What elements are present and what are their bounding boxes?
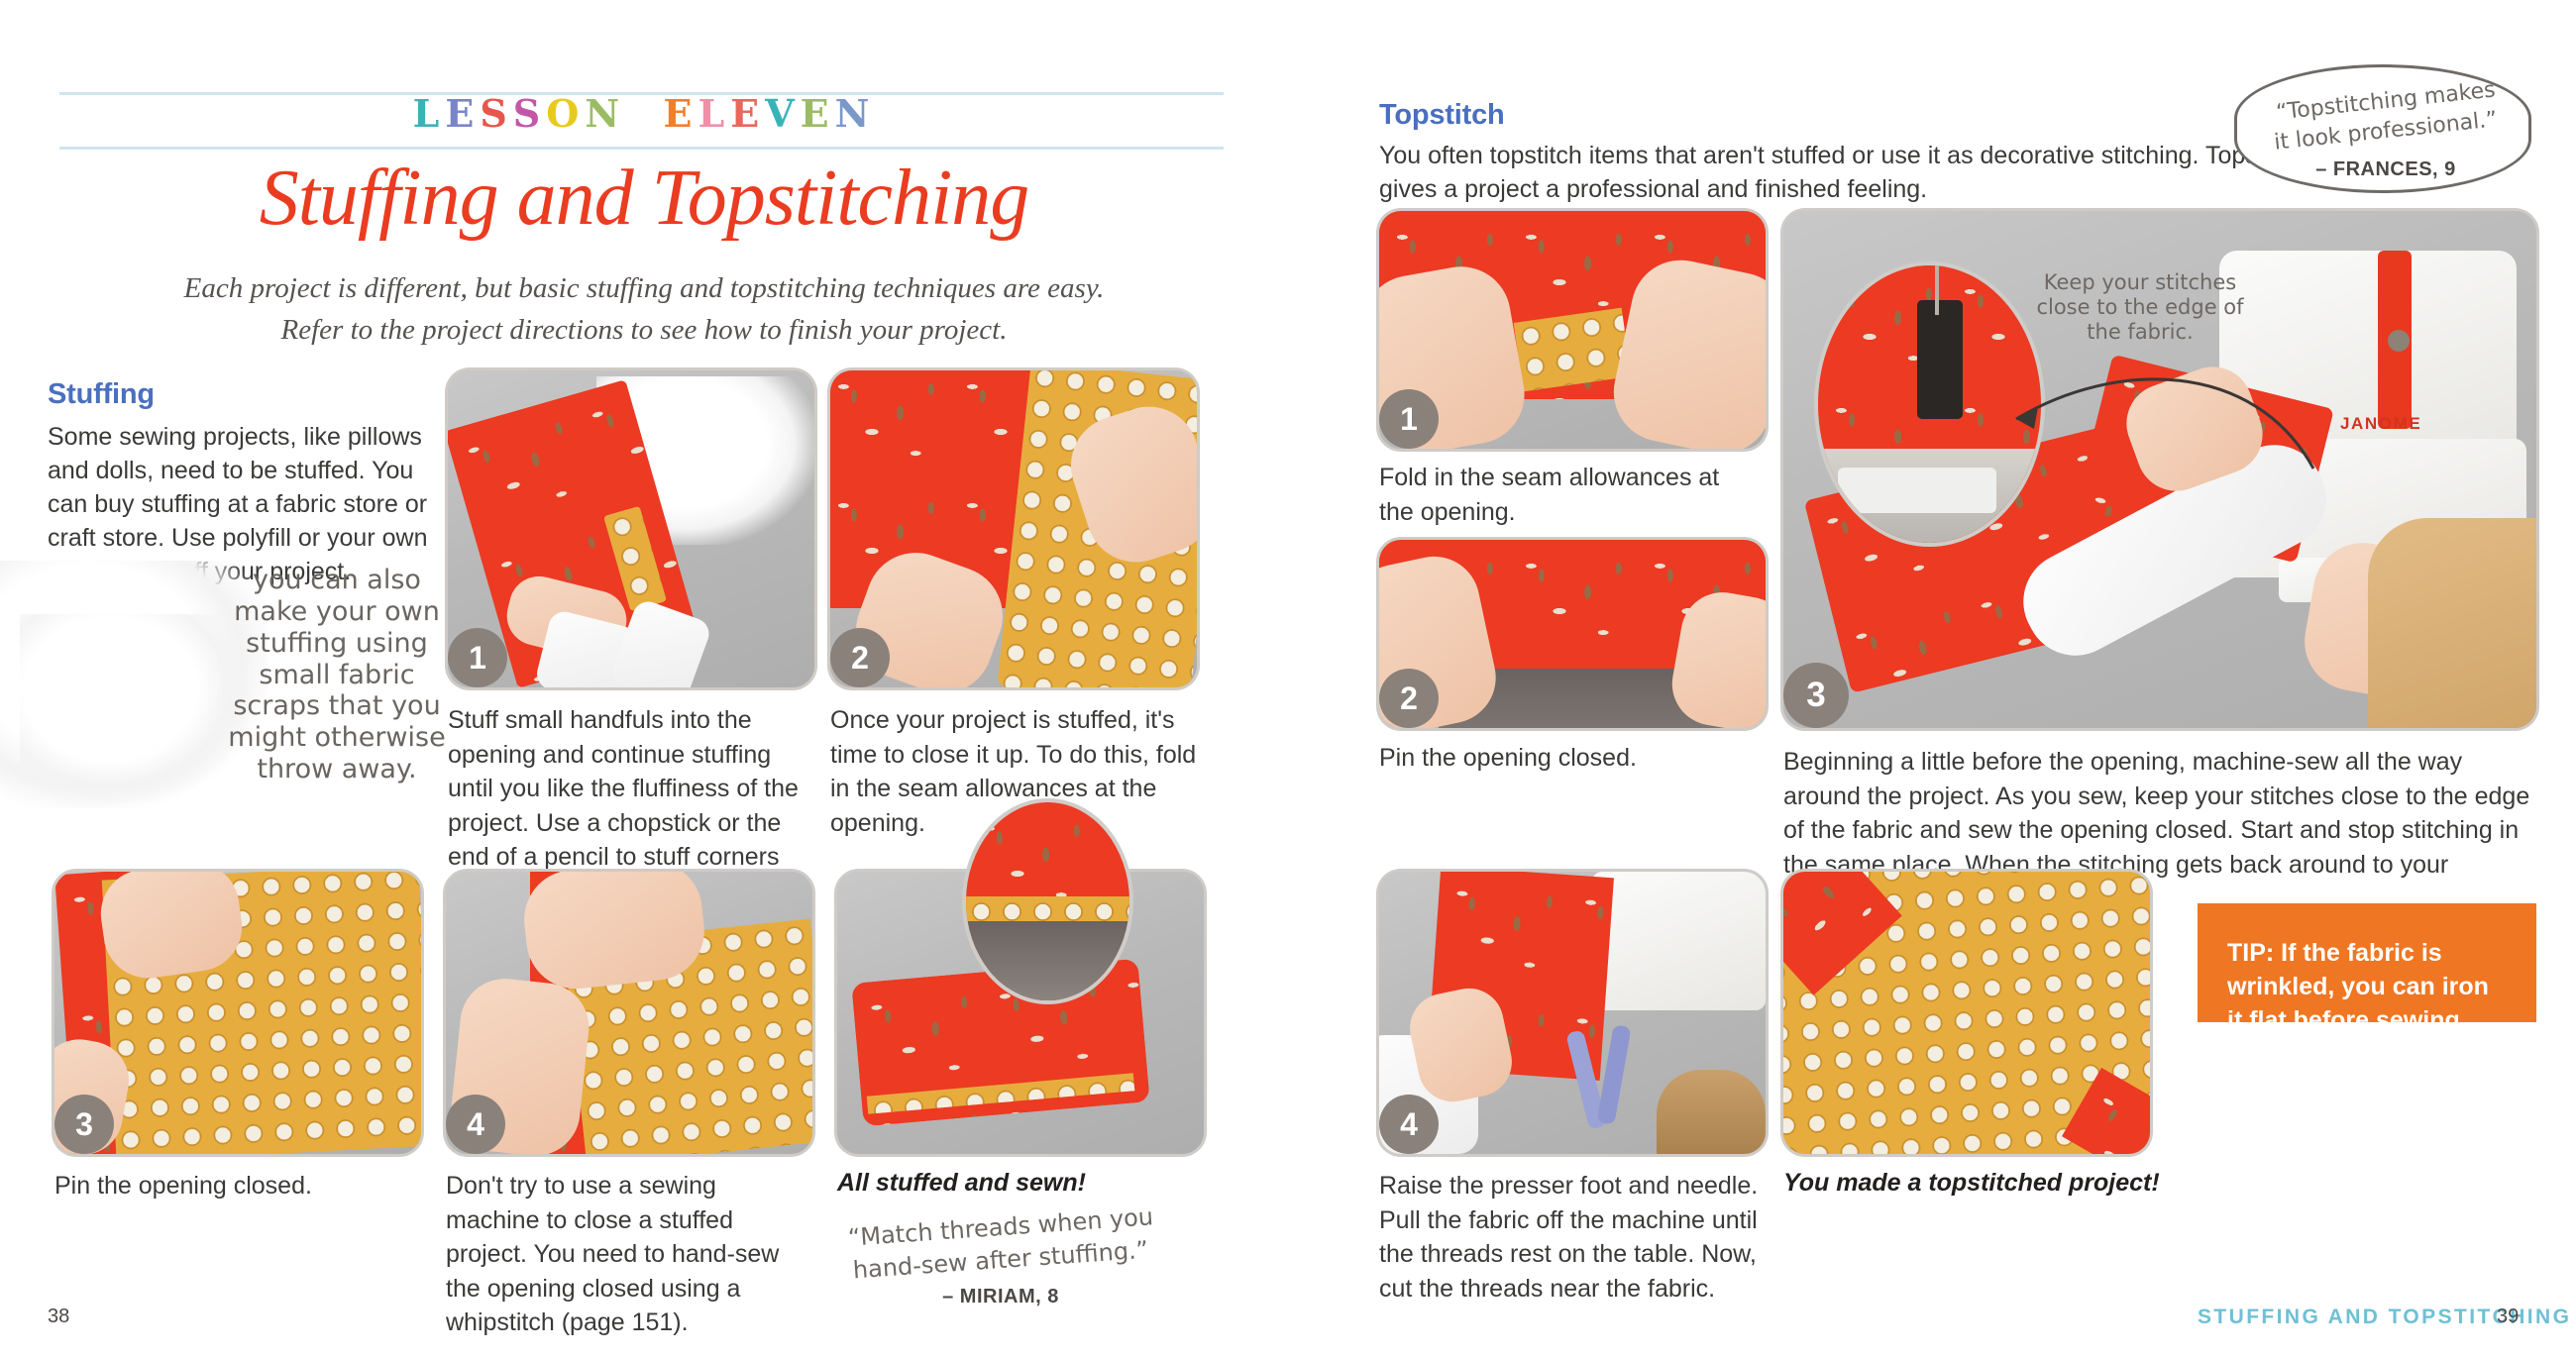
step-badge-3: 3 <box>54 1095 114 1154</box>
photo-right-step-3: JANOME Keep your stitches close to the e… <box>1783 211 2536 728</box>
step-badge-right-4: 4 <box>1379 1095 1439 1154</box>
quote-left-attribution: – MIRIAM, 8 <box>837 1286 1164 1308</box>
quote-bubble-right: “Topstitching makes it look professional… <box>2234 64 2531 193</box>
photo-step-3: 3 <box>54 872 421 1154</box>
caption-step-4: Don't try to use a sewing machine to clo… <box>446 1169 812 1340</box>
handwritten-note-stuffing: you can also make your own stuffing usin… <box>213 565 461 785</box>
caption-right-step-4: Raise the presser foot and needle. Pull … <box>1379 1169 1766 1306</box>
lesson-label-letter-1: E <box>445 91 480 136</box>
step-badge-right-3: 3 <box>1783 663 1849 728</box>
lesson-label-letter-4: O <box>546 91 585 136</box>
header-rule-bottom <box>59 147 1224 150</box>
folio-left: 38 <box>48 1306 69 1328</box>
step-badge-4: 4 <box>446 1095 505 1154</box>
caption-result-left: All stuffed and sewn! <box>837 1169 1204 1198</box>
section-heading-stuffing: Stuffing <box>48 378 444 411</box>
lesson-label: LESSON ELEVEN <box>0 91 1288 136</box>
page-title: Stuffing and Topstitching <box>0 154 1288 244</box>
lesson-label-letter-9: E <box>730 91 765 136</box>
quote-right-attribution: – FRANCES, 9 <box>2237 158 2534 181</box>
lesson-label-letter-10: V <box>765 91 800 136</box>
tip-box: TIP: If the fabric is wrinkled, you can … <box>2198 903 2536 1022</box>
step-badge-2: 2 <box>830 628 890 687</box>
step-badge-result-left <box>837 1095 897 1154</box>
inset-note-line2: close to the edge of <box>2036 295 2244 320</box>
lesson-label-letter-8: L <box>698 91 731 136</box>
section-heading-topstitch: Topstitch <box>1379 99 1875 132</box>
caption-right-step-1: Fold in the seam allowances at the openi… <box>1379 461 1746 529</box>
step-badge-right-1: 1 <box>1379 389 1439 449</box>
page-subtitle: Each project is different, but basic stu… <box>178 267 1110 351</box>
photo-result-right <box>1783 872 2150 1154</box>
lesson-label-letter-6 <box>625 91 663 136</box>
lesson-label-letter-0: L <box>413 91 446 136</box>
step-badge-1: 1 <box>448 628 507 687</box>
caption-right-step-2: Pin the opening closed. <box>1379 741 1746 776</box>
inset-note-line1: Keep your stitches <box>2036 270 2244 295</box>
photo-right-step-1: 1 <box>1379 211 1766 449</box>
photo-step-2: 2 <box>830 370 1197 687</box>
photo-right-step-2: 2 <box>1379 540 1766 728</box>
lesson-label-letter-2: S <box>480 91 512 136</box>
inset-closeup-left <box>966 802 1129 1000</box>
caption-result-right: You made a topstitched project! <box>1783 1169 2200 1198</box>
lesson-label-letter-3: S <box>513 91 546 136</box>
inset-note-line3: the fabric. <box>2036 320 2244 345</box>
caption-step-3: Pin the opening closed. <box>54 1169 421 1203</box>
photo-right-step-4: 4 <box>1379 872 1766 1154</box>
lesson-label-letter-11: E <box>801 91 835 136</box>
section-intro-topstitch: You often topstitch items that aren't st… <box>1379 139 2370 206</box>
lesson-label-letter-5: N <box>585 91 625 136</box>
lesson-label-letter-12: N <box>835 91 876 136</box>
callout-arrow-icon <box>1996 350 2353 548</box>
photo-step-1: 1 <box>448 370 814 687</box>
lesson-label-letter-7: E <box>664 91 698 136</box>
book-spread: LESSON ELEVEN Stuffing and Topstitching … <box>0 0 2576 1359</box>
photo-step-4: 4 <box>446 872 812 1154</box>
step-badge-right-2: 2 <box>1379 669 1439 728</box>
folio-right: 39 <box>2497 1306 2519 1328</box>
